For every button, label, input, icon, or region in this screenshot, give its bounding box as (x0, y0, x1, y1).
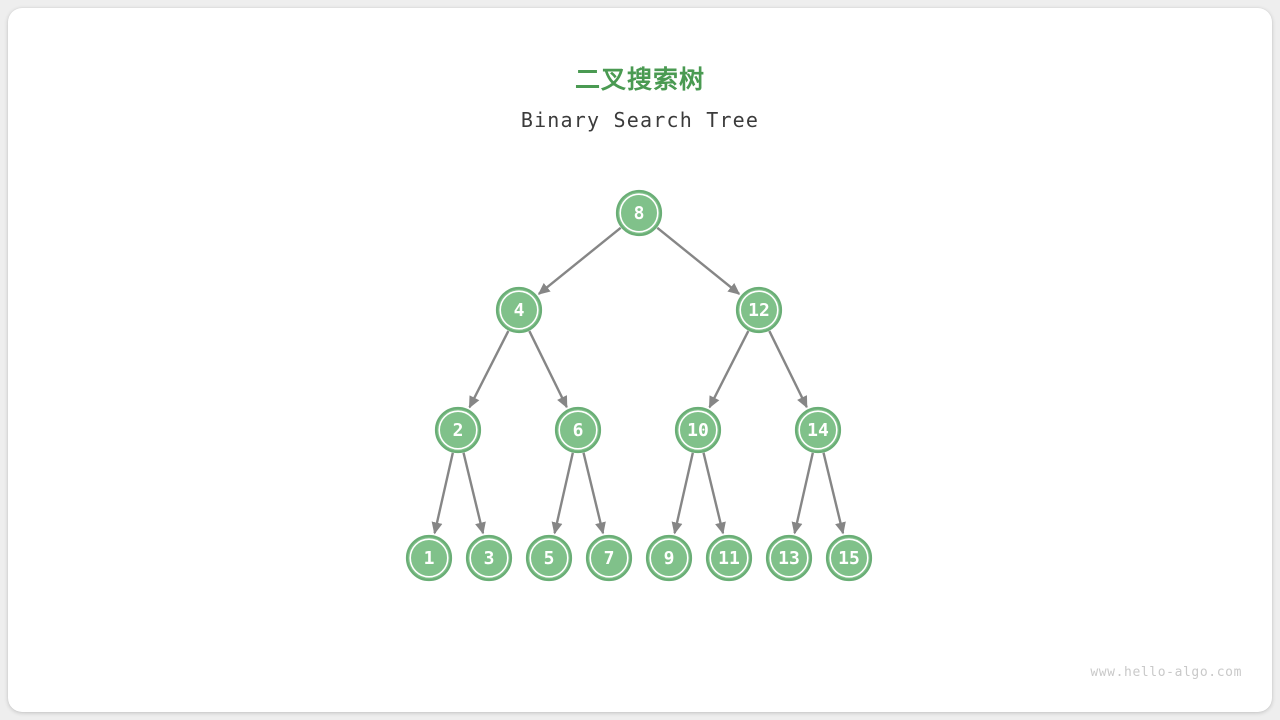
tree-edge (584, 453, 603, 533)
tree-node: 9 (647, 536, 691, 580)
tree-edge (795, 453, 813, 533)
tree-node: 15 (827, 536, 871, 580)
node-value-label: 5 (544, 548, 555, 569)
node-value-label: 15 (838, 548, 860, 569)
tree-edge (710, 331, 749, 407)
tree-node: 3 (467, 536, 511, 580)
tree-node: 12 (737, 288, 781, 332)
tree-node: 13 (767, 536, 811, 580)
tree-edge (657, 228, 739, 294)
node-value-label: 10 (687, 420, 709, 441)
tree-edge (704, 453, 723, 533)
figure-card: 二叉搜索树 Binary Search Tree 841226101413579… (8, 8, 1272, 712)
node-value-label: 11 (718, 548, 740, 569)
tree-node: 4 (497, 288, 541, 332)
watermark-label: www.hello-algo.com (1090, 665, 1242, 680)
node-value-label: 4 (514, 300, 525, 321)
node-value-label: 14 (807, 420, 829, 441)
node-value-label: 8 (634, 203, 645, 224)
node-value-label: 2 (453, 420, 464, 441)
node-value-label: 3 (484, 548, 495, 569)
tree-node: 5 (527, 536, 571, 580)
tree-node: 11 (707, 536, 751, 580)
tree-node: 1 (407, 536, 451, 580)
tree-edge (824, 453, 843, 533)
tree-edge (769, 331, 806, 407)
tree-edge (470, 331, 509, 407)
binary-search-tree-diagram: 841226101413579111315 (8, 8, 1272, 712)
screenshot-canvas: 二叉搜索树 Binary Search Tree 841226101413579… (0, 0, 1280, 720)
tree-node: 6 (556, 408, 600, 452)
tree-edge (539, 228, 621, 294)
tree-edge (435, 453, 453, 533)
tree-edge (555, 453, 573, 533)
tree-node: 14 (796, 408, 840, 452)
node-value-label: 7 (604, 548, 615, 569)
tree-edge (529, 331, 566, 407)
node-value-label: 1 (424, 548, 435, 569)
node-value-label: 12 (748, 300, 770, 321)
tree-edge (675, 453, 693, 533)
tree-edges (435, 228, 843, 533)
tree-nodes: 841226101413579111315 (407, 191, 871, 580)
node-value-label: 9 (664, 548, 675, 569)
tree-edge (464, 453, 483, 533)
tree-node: 8 (617, 191, 661, 235)
node-value-label: 6 (573, 420, 584, 441)
node-value-label: 13 (778, 548, 800, 569)
tree-node: 7 (587, 536, 631, 580)
tree-node: 10 (676, 408, 720, 452)
tree-node: 2 (436, 408, 480, 452)
